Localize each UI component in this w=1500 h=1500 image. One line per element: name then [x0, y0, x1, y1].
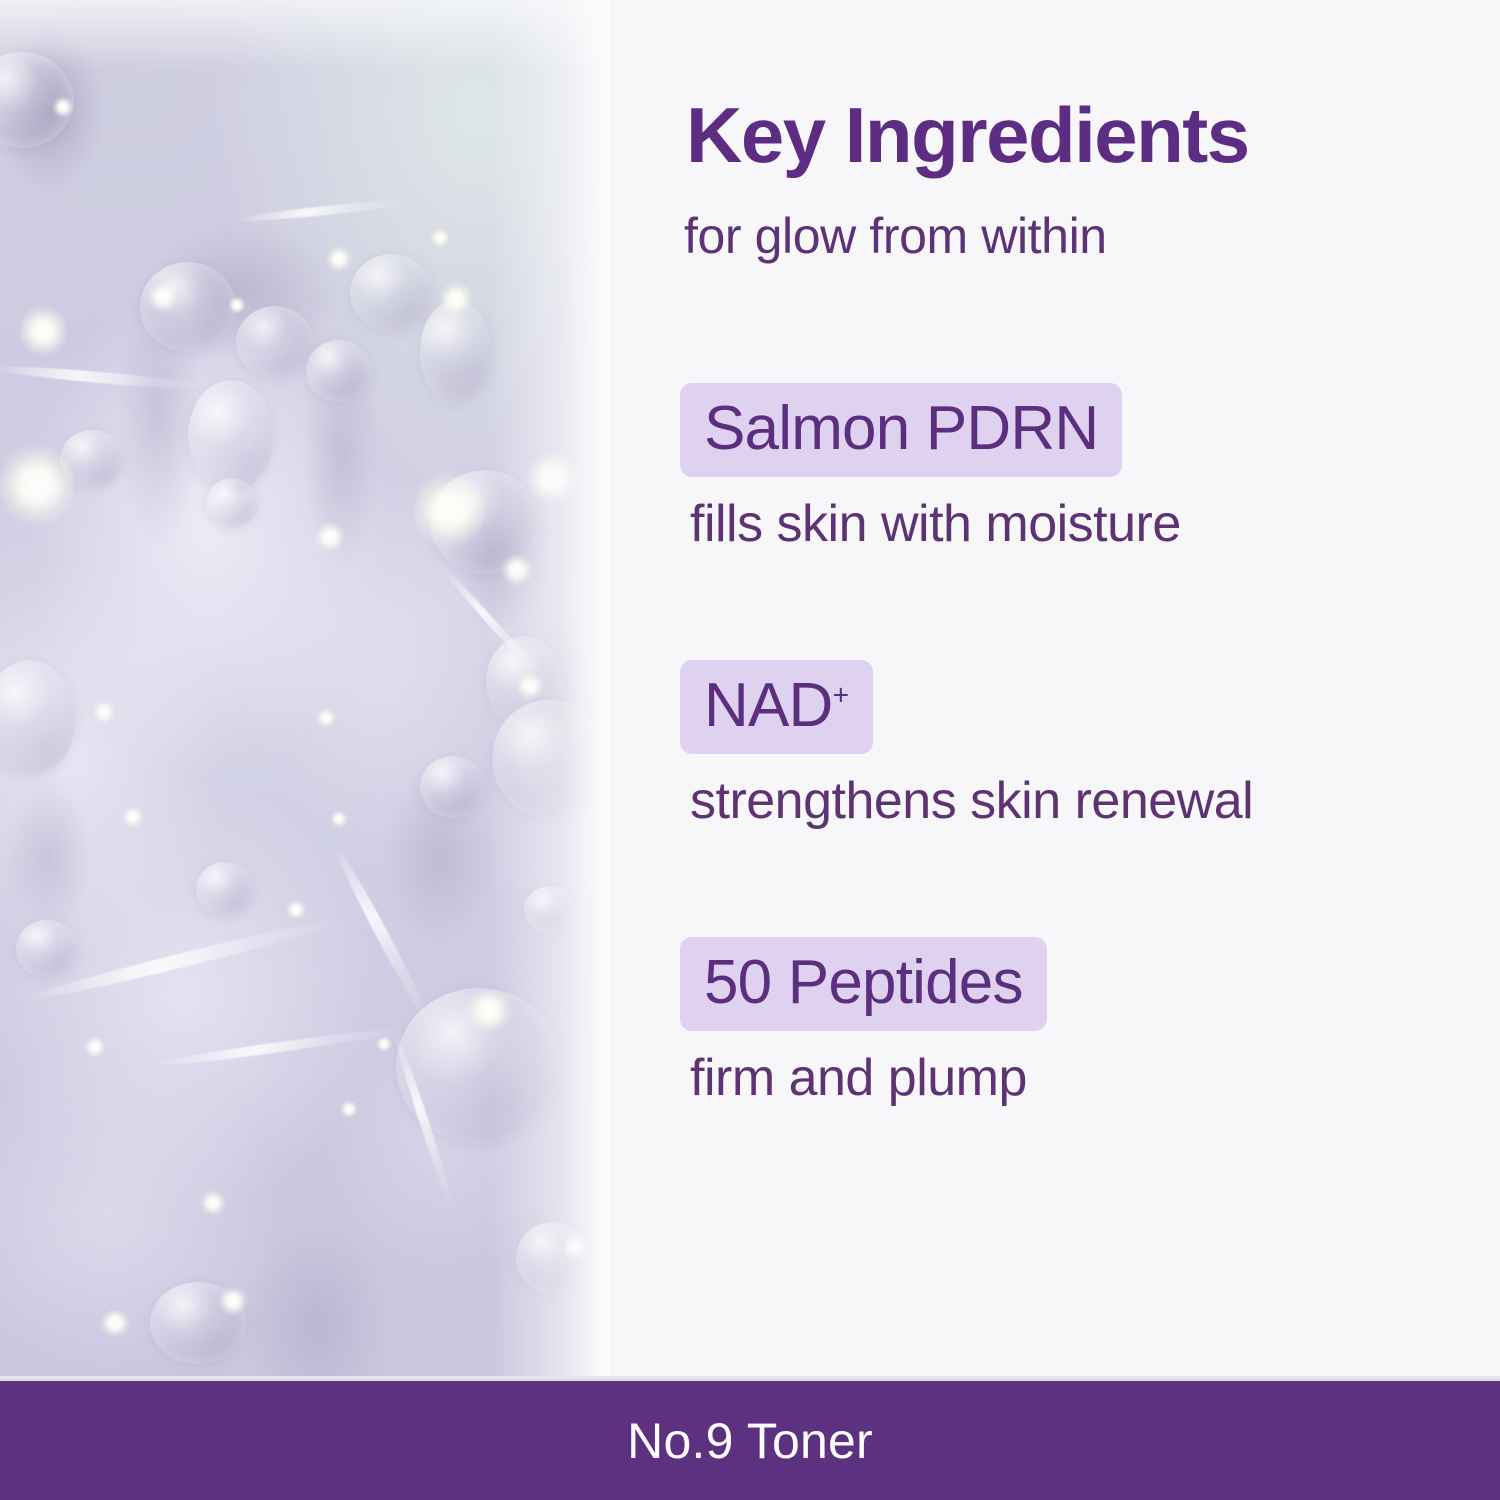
ingredient-name-label: Salmon PDRN	[704, 394, 1098, 463]
gel-sparkle	[52, 96, 74, 118]
gel-bubble	[420, 756, 486, 818]
gel-sparkle	[430, 228, 450, 248]
gel-sparkle	[376, 1036, 392, 1052]
list-item: NAD+ strengthens skin renewal	[680, 660, 1480, 831]
gel-sparkle	[98, 1310, 132, 1336]
page-title: Key Ingredients	[686, 96, 1496, 174]
list-item: 50 Peptides firm and plump	[680, 937, 1480, 1108]
product-name-label: No.9 Toner	[627, 1412, 873, 1470]
key-ingredients-infographic: Key Ingredients for glow from within Sal…	[0, 0, 1500, 1500]
gel-bubble	[16, 920, 78, 978]
gel-bubble	[350, 254, 434, 332]
ingredient-description: strengthens skin renewal	[680, 771, 1480, 831]
gel-bubble	[236, 306, 314, 378]
media-edge-fade	[490, 0, 610, 1381]
gel-sparkle	[314, 522, 346, 552]
gel-sparkle	[286, 900, 306, 920]
gel-sparkle	[438, 282, 474, 316]
list-item: Salmon PDRN fills skin with moisture	[680, 383, 1480, 554]
gel-sparkle	[200, 1190, 226, 1216]
page-subtitle: for glow from within	[684, 207, 1107, 265]
gel-sparkle	[84, 1036, 106, 1058]
ingredient-description: firm and plump	[680, 1048, 1480, 1108]
gel-sparkle	[122, 806, 144, 828]
ingredient-description: fills skin with moisture	[680, 494, 1480, 554]
gel-texture-image	[0, 0, 610, 1381]
gel-bubble	[196, 862, 254, 916]
gel-sparkle	[20, 302, 66, 360]
gel-sparkle	[414, 468, 484, 552]
ingredient-name-label: NAD	[704, 671, 833, 740]
ingredient-name-badge: Salmon PDRN	[680, 383, 1122, 477]
ingredients-content-panel: Key Ingredients for glow from within Sal…	[610, 0, 1500, 1381]
gel-sparkle	[326, 246, 352, 272]
gel-sparkle	[330, 810, 348, 828]
gel-bubble	[306, 340, 372, 402]
ingredient-name-label: 50 Peptides	[704, 948, 1023, 1017]
ingredient-list: Salmon PDRN fills skin with moisture NAD…	[680, 383, 1480, 1108]
product-footer-bar: No.9 Toner	[0, 1381, 1500, 1500]
gel-sparkle	[228, 296, 246, 314]
gel-bubble	[206, 478, 258, 528]
ingredient-name-badge: NAD+	[680, 660, 873, 754]
ingredient-name-badge: 50 Peptides	[680, 937, 1047, 1031]
gel-sparkle	[218, 1286, 248, 1316]
gel-sparkle	[0, 440, 74, 530]
gel-sparkle	[340, 1100, 358, 1118]
gel-bubble	[188, 380, 274, 492]
gel-sparkle	[148, 282, 178, 312]
gel-sparkle	[316, 708, 336, 728]
ingredient-superscript: +	[833, 679, 850, 711]
gel-sparkle	[92, 700, 116, 724]
